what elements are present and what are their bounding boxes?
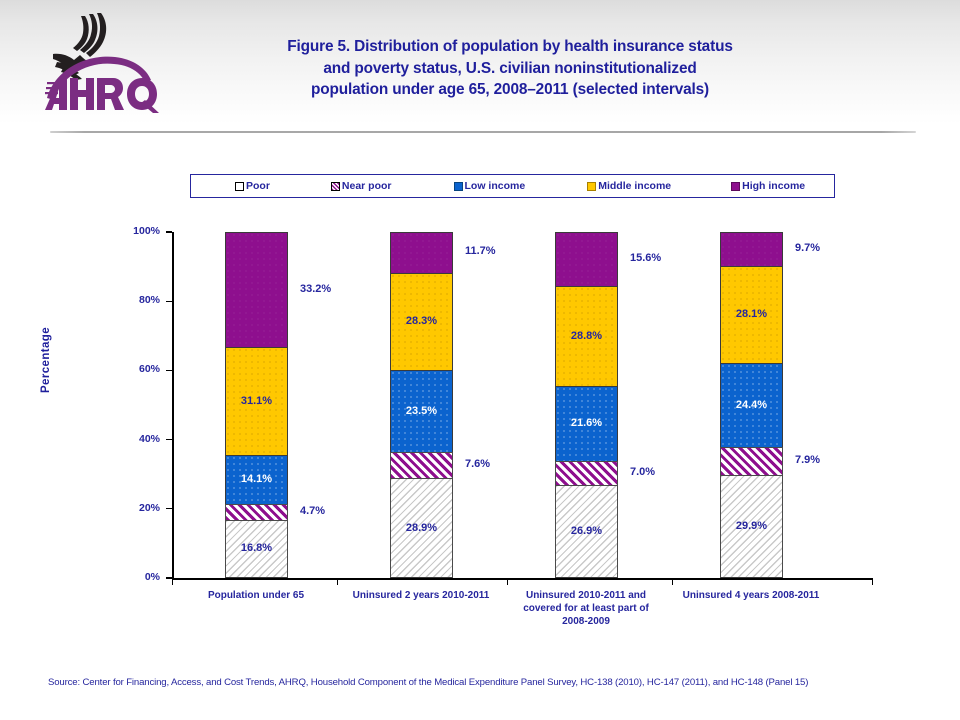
x-tick-mark (872, 578, 873, 585)
y-tick-label: 100% (112, 225, 160, 237)
y-tick-mark (166, 508, 172, 509)
segment-value-label-outside: 4.7% (300, 505, 325, 517)
x-category-label-line: Uninsured 2 years 2010-2011 (332, 589, 510, 602)
bar-segment-low-income[interactable]: 14.1% (225, 455, 288, 504)
x-tick-mark (172, 578, 173, 585)
y-tick-label: 80% (112, 294, 160, 306)
segment-value-label: 31.1% (241, 396, 272, 407)
y-tick-mark (166, 231, 172, 232)
x-category-label: Uninsured 2010-2011 andcovered for at le… (500, 589, 672, 628)
bar-segment-middle-income[interactable]: 28.8% (555, 286, 618, 386)
stacked-bar[interactable]: 29.9%24.4%28.1% (720, 232, 783, 578)
bar-segment-high-income[interactable] (720, 232, 783, 266)
segment-value-label: 28.3% (406, 316, 437, 327)
x-axis-line (172, 578, 872, 580)
y-tick-label: 40% (112, 433, 160, 445)
bar-segment-middle-income[interactable]: 28.3% (390, 273, 453, 371)
bar-segment-poor[interactable]: 29.9% (720, 475, 783, 578)
segment-value-label: 14.1% (241, 474, 272, 485)
bar-segment-low-income[interactable]: 24.4% (720, 363, 783, 447)
stacked-bar-chart: Percentage 0%20%40%60%80%100% 16.8%14.1%… (0, 0, 960, 720)
segment-value-label: 28.8% (571, 331, 602, 342)
segment-value-label-outside: 11.7% (465, 245, 496, 257)
x-category-label-line: Population under 65 (171, 589, 341, 602)
y-tick-label: 20% (112, 502, 160, 514)
source-note: Source: Center for Financing, Access, an… (48, 676, 888, 690)
y-tick-mark (166, 370, 172, 371)
x-category-label: Uninsured 4 years 2008-2011 (662, 589, 840, 602)
bar-segment-high-income[interactable] (390, 232, 453, 272)
segment-value-label: 16.8% (241, 543, 272, 554)
bar-segment-poor[interactable]: 16.8% (225, 520, 288, 578)
segment-value-label-outside: 7.9% (795, 454, 820, 466)
x-category-label-line: covered for at least part of (500, 602, 672, 615)
segment-value-label: 21.6% (571, 418, 602, 429)
segment-value-label-outside: 9.7% (795, 242, 820, 254)
segment-value-label: 24.4% (736, 400, 767, 411)
bar-segment-high-income[interactable] (225, 232, 288, 347)
segment-value-label-outside: 33.2% (300, 283, 331, 295)
segment-value-label: 28.9% (406, 523, 437, 534)
bar-segment-poor[interactable]: 26.9% (555, 485, 618, 578)
bar-segment-middle-income[interactable]: 31.1% (225, 347, 288, 455)
y-tick-mark (166, 439, 172, 440)
x-category-label-line: 2008-2009 (500, 615, 672, 628)
segment-value-label-outside: 7.6% (465, 458, 490, 470)
y-tick-mark (166, 301, 172, 302)
segment-value-label: 28.1% (736, 309, 767, 320)
segment-value-label: 29.9% (736, 521, 767, 532)
bar-segment-near-poor[interactable] (390, 452, 453, 478)
segment-value-label-outside: 7.0% (630, 466, 655, 478)
bar-segment-middle-income[interactable]: 28.1% (720, 266, 783, 363)
segment-value-label-outside: 15.6% (630, 252, 661, 264)
y-axis-line (172, 232, 174, 579)
x-category-label: Uninsured 2 years 2010-2011 (332, 589, 510, 602)
figure-page: Figure 5. Distribution of population by … (0, 0, 960, 720)
x-category-label: Population under 65 (171, 589, 341, 602)
stacked-bar[interactable]: 26.9%21.6%28.8% (555, 232, 618, 578)
bar-segment-near-poor[interactable] (555, 461, 618, 485)
segment-value-label: 23.5% (406, 406, 437, 417)
x-tick-mark (337, 578, 338, 585)
segment-value-label: 26.9% (571, 526, 602, 537)
bar-segment-low-income[interactable]: 21.6% (555, 386, 618, 461)
bar-segment-near-poor[interactable] (720, 447, 783, 474)
bar-segment-near-poor[interactable] (225, 504, 288, 520)
x-category-label-line: Uninsured 4 years 2008-2011 (662, 589, 840, 602)
bar-segment-high-income[interactable] (555, 232, 618, 286)
bar-segment-poor[interactable]: 28.9% (390, 478, 453, 578)
stacked-bar[interactable]: 28.9%23.5%28.3% (390, 232, 453, 578)
y-tick-label: 0% (112, 571, 160, 583)
y-tick-label: 60% (112, 363, 160, 375)
x-category-label-line: Uninsured 2010-2011 and (500, 589, 672, 602)
y-axis-title: Percentage (40, 300, 52, 420)
bar-segment-low-income[interactable]: 23.5% (390, 370, 453, 451)
stacked-bar[interactable]: 16.8%14.1%31.1% (225, 232, 288, 578)
x-tick-mark (507, 578, 508, 585)
x-tick-mark (672, 578, 673, 585)
